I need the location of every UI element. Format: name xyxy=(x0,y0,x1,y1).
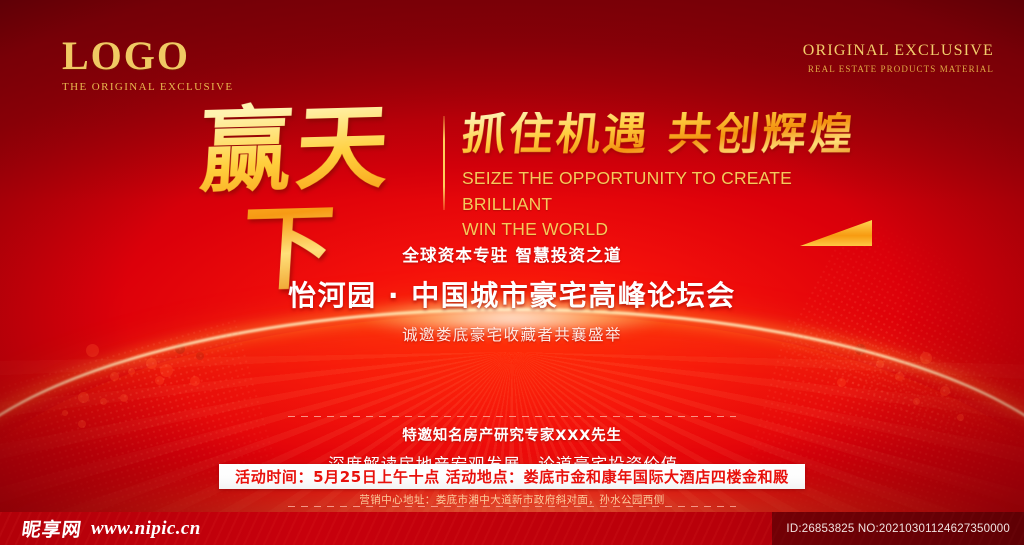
watermark-block: 昵享网 www.nipic.cn xyxy=(22,515,201,542)
logo-tagline: THE ORIGINAL EXCLUSIVE xyxy=(62,81,234,93)
hero-slogan-cn: 抓住机遇共创辉煌 xyxy=(460,112,885,158)
logo-block: LOGO THE ORIGINAL EXCLUSIVE xyxy=(62,36,234,93)
sales-center-address: 营销中心地址：娄底市湘中大道新市政府斜对面，孙水公园西侧 xyxy=(0,492,1024,507)
hero-slogan-en-2: WIN THE WORLD xyxy=(462,217,882,242)
event-detail-bar: 活动时间：5月25日上午十点 活动地点：娄底市金和康年国际大酒店四楼金和殿 xyxy=(219,464,805,489)
guest-speaker-line: 特邀知名房产研究专家XXX先生 xyxy=(0,424,1024,445)
header-right-block: ORIGINAL EXCLUSIVE REAL ESTATE PRODUCTS … xyxy=(803,42,994,74)
center-copy-block: 全球资本专驻 智慧投资之道 怡河园 · 中国城市豪宅高峰论坛会 诚邀娄底豪宅收藏… xyxy=(0,242,1024,345)
dashed-divider-top xyxy=(288,416,736,417)
header-right-title: ORIGINAL EXCLUSIVE xyxy=(803,42,994,60)
hero-slogan-block: 抓住机遇共创辉煌 SEIZE THE OPPORTUNITY TO CREATE… xyxy=(462,112,882,242)
center-sub-line: 诚邀娄底豪宅收藏者共襄盛举 xyxy=(0,323,1024,345)
header-right-subtitle: REAL ESTATE PRODUCTS MATERIAL xyxy=(803,64,994,74)
hero-slogan-cn-b: 共创辉煌 xyxy=(665,109,858,160)
hero-slogan-cn-a: 抓住机遇 xyxy=(459,109,652,160)
watermark-brand-cn: 昵享网 xyxy=(20,515,84,542)
poster-canvas: LOGO THE ORIGINAL EXCLUSIVE ORIGINAL EXC… xyxy=(0,0,1024,545)
event-title: 怡河园 · 中国城市豪宅高峰论坛会 xyxy=(0,274,1024,314)
logo-text: LOGO xyxy=(62,36,234,76)
asset-id-box: ID:26853825 NO:20210301124627350000 xyxy=(772,512,1024,545)
event-detail-text: 活动时间：5月25日上午十点 活动地点：娄底市金和康年国际大酒店四楼金和殿 xyxy=(235,466,789,487)
footer-bar: 昵享网 www.nipic.cn ID:26853825 NO:20210301… xyxy=(0,512,1024,545)
hero-divider xyxy=(443,116,445,210)
asset-id-text: ID:26853825 NO:20210301124627350000 xyxy=(786,523,1010,535)
watermark-url: www.nipic.cn xyxy=(91,518,201,540)
dashed-divider-bottom xyxy=(288,506,736,507)
hero-slogan-en-1: SEIZE THE OPPORTUNITY TO CREATE BRILLIAN… xyxy=(462,166,882,217)
center-top-line: 全球资本专驻 智慧投资之道 xyxy=(0,242,1024,266)
